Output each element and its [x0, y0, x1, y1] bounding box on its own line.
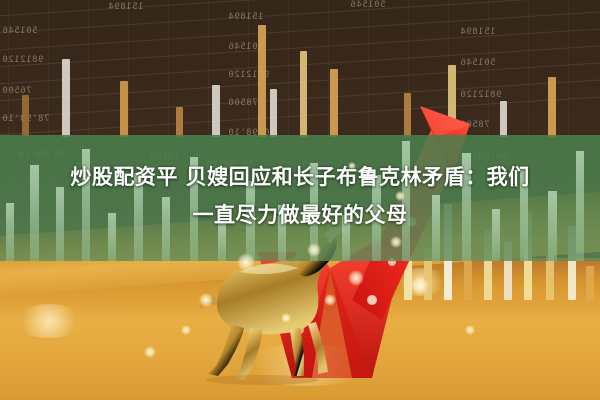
- chart-bar: [404, 93, 411, 137]
- bokeh-light: [348, 270, 364, 286]
- axis-label: 9812120: [460, 90, 501, 100]
- bokeh-light: [237, 253, 255, 271]
- axis-label: 78500: [460, 120, 490, 130]
- headline-line-1: 炒股配资平 贝嫂回应和长子布鲁克林矛盾：我们: [0, 158, 600, 196]
- bokeh-light: [199, 293, 213, 307]
- chart-bar: [464, 260, 472, 300]
- gridline-horizontal: [0, 0, 600, 37]
- chart-bar: [300, 51, 307, 137]
- chart-bar: [212, 85, 220, 137]
- axis-label: 151894: [460, 27, 496, 37]
- chart-bar: [22, 95, 29, 137]
- bokeh-light: [411, 277, 429, 295]
- chart-bar: [62, 59, 70, 137]
- bokeh-light: [465, 325, 475, 335]
- axis-label: 151894: [228, 12, 264, 22]
- axis-label: 9812120: [2, 55, 43, 65]
- chart-bar: [270, 89, 277, 137]
- bokeh-light: [181, 325, 191, 335]
- axis-label: 501546: [460, 58, 496, 68]
- axis-label: 501546: [2, 26, 38, 36]
- chart-bar: [258, 25, 266, 137]
- headline: 炒股配资平 贝嫂回应和长子布鲁克林矛盾：我们 一直尽力做最好的父母: [0, 158, 600, 234]
- chart-bar: [500, 101, 507, 137]
- chart-bar: [330, 69, 338, 137]
- axis-label: 78500: [228, 98, 258, 108]
- bokeh-light: [281, 313, 291, 323]
- chart-bar: [120, 81, 128, 137]
- chart-bar: [176, 107, 183, 137]
- bokeh-light: [307, 243, 321, 257]
- chart-bar: [586, 266, 594, 300]
- chart-bar: [448, 65, 456, 137]
- axis-label: 501546: [350, 0, 386, 10]
- bokeh-light: [390, 236, 402, 248]
- news-thumbnail: 1518945015461518949812120501546151894765…: [0, 0, 600, 400]
- axis-label: 151894: [108, 2, 144, 12]
- bokeh-light: [144, 346, 156, 358]
- chart-bar: [548, 77, 556, 137]
- bokeh-light: [324, 294, 336, 306]
- headline-line-2: 一直尽力做最好的父母: [0, 196, 600, 234]
